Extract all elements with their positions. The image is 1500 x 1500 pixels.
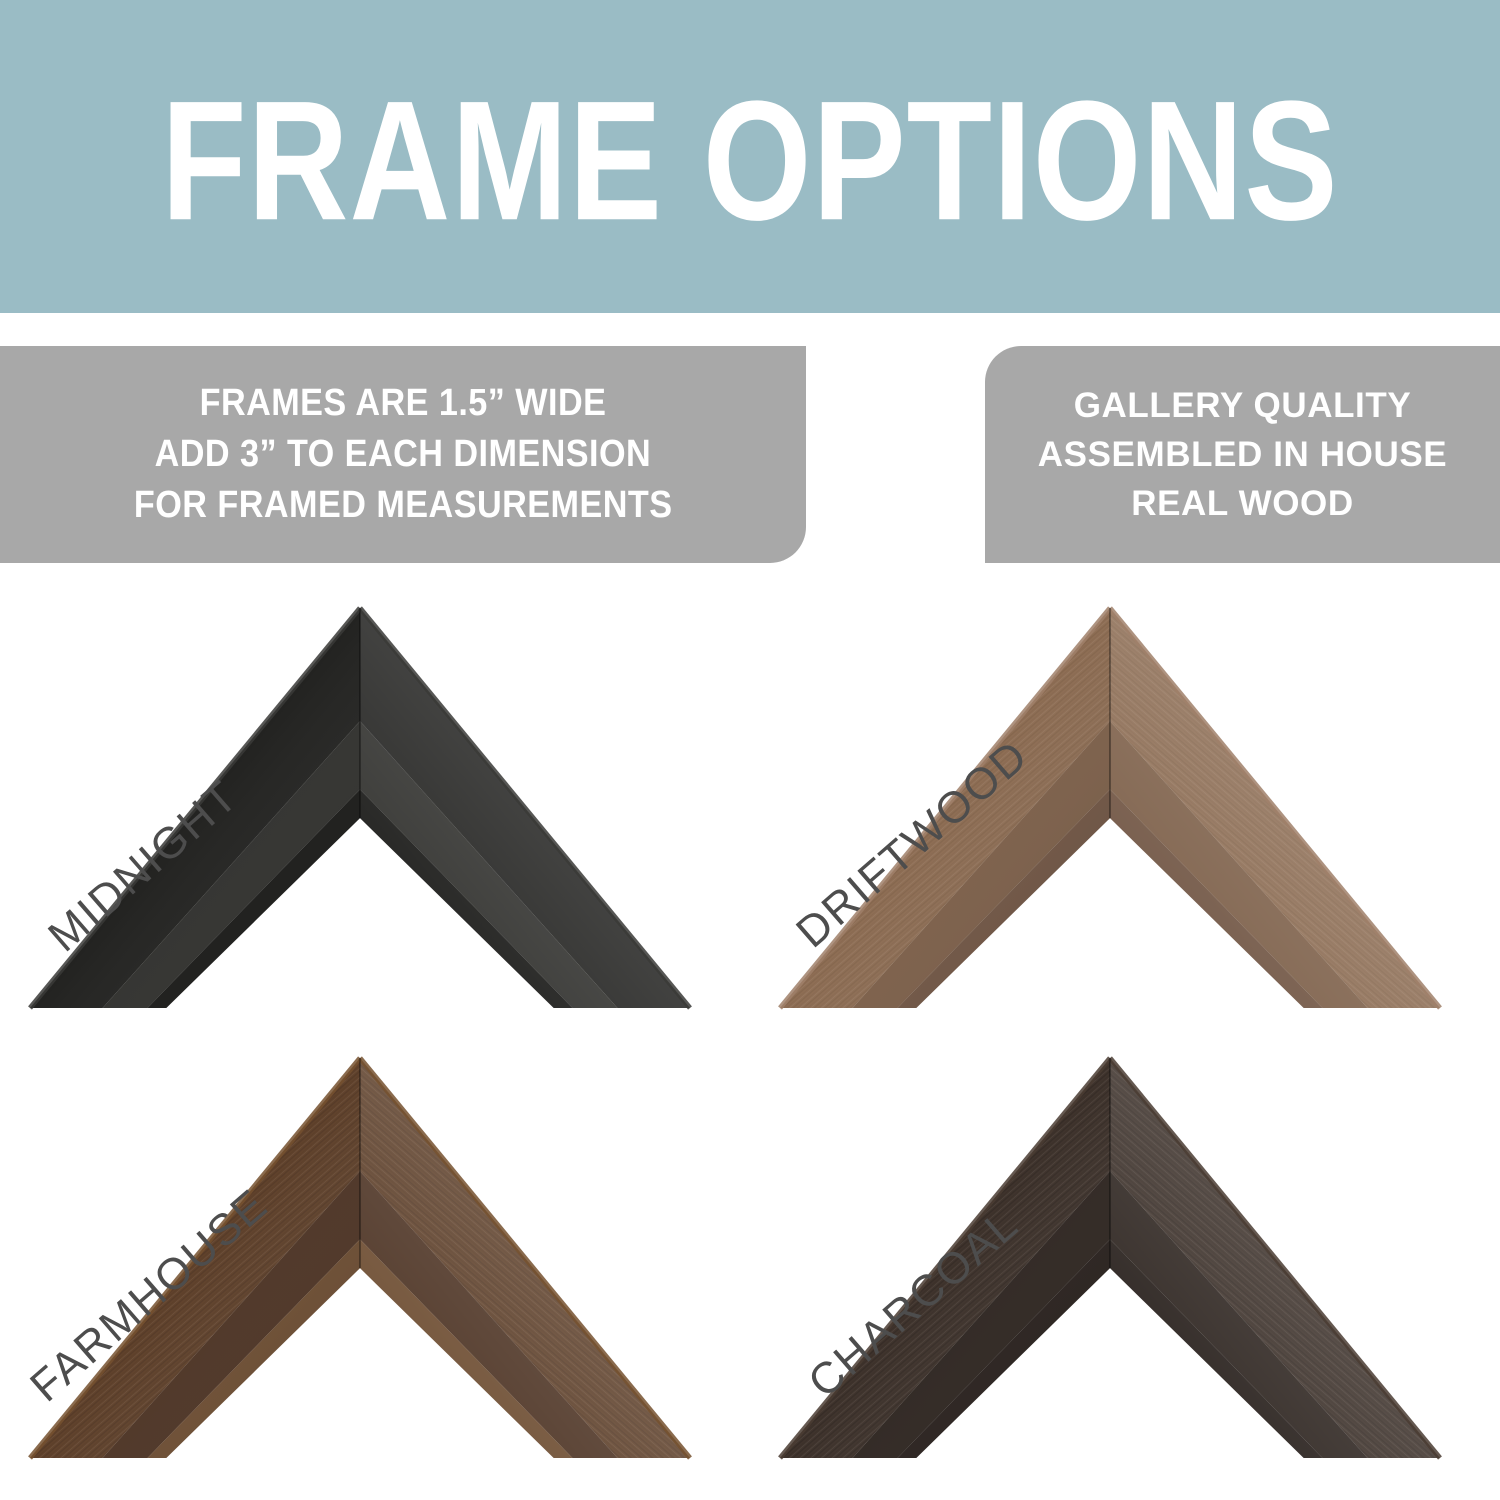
frame-sample-charcoal[interactable]: CHARCOAL xyxy=(750,1040,1500,1500)
info-line: FOR FRAMED MEASUREMENTS xyxy=(134,480,673,531)
info-line: REAL WOOD xyxy=(1131,479,1354,528)
frame-sample-driftwood[interactable]: DRIFTWOOD xyxy=(750,590,1500,1050)
frame-sample-midnight[interactable]: MIDNIGHT xyxy=(0,590,750,1050)
header-banner: FRAME OPTIONS xyxy=(0,0,1500,313)
info-line: FRAMES ARE 1.5” WIDE xyxy=(200,378,607,429)
frame-corner-icon xyxy=(0,590,750,1050)
frame-sample-farmhouse[interactable]: FARMHOUSE xyxy=(0,1040,750,1500)
info-line: ASSEMBLED IN HOUSE xyxy=(1038,430,1447,479)
info-line: GALLERY QUALITY xyxy=(1074,381,1412,430)
info-box-measurements: FRAMES ARE 1.5” WIDE ADD 3” TO EACH DIME… xyxy=(0,346,806,563)
frame-corner-icon xyxy=(750,1040,1500,1500)
frame-corner-icon xyxy=(0,1040,750,1500)
frame-corner-icon xyxy=(750,590,1500,1050)
info-line: ADD 3” TO EACH DIMENSION xyxy=(155,429,652,480)
info-box-quality: GALLERY QUALITY ASSEMBLED IN HOUSE REAL … xyxy=(985,346,1500,563)
page-title: FRAME OPTIONS xyxy=(161,75,1338,245)
